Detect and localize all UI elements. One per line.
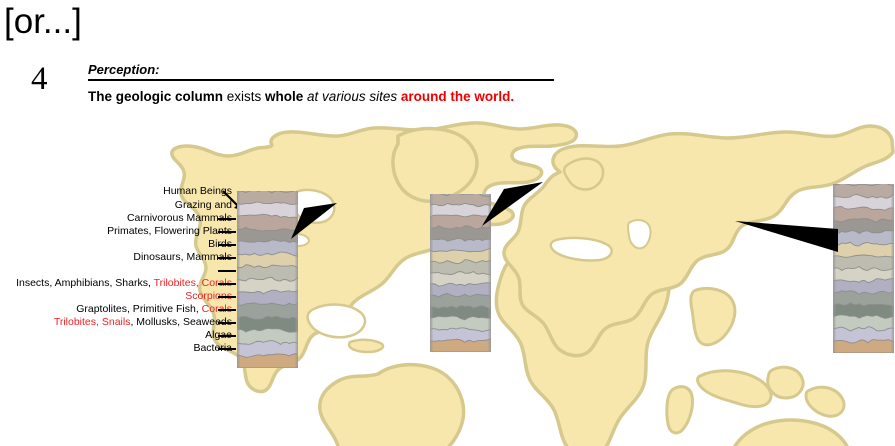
tick-carnivorous-mammals — [218, 218, 236, 220]
stratum-layer-14 — [833, 340, 894, 353]
headline-part-1: The geologic column — [88, 89, 223, 104]
headline-part-4: at various sites — [303, 89, 401, 104]
column-left-edge — [430, 194, 433, 352]
tick-scorpions — [218, 296, 236, 298]
land-greenland — [393, 129, 477, 202]
tick-graptolites-primitive-fish — [218, 309, 236, 311]
headline-part-3: whole — [265, 89, 303, 104]
stratum-tick-marks — [0, 186, 245, 376]
headline-text: The geologic column exists whole at vari… — [88, 88, 558, 105]
perception-label: Perception: — [88, 62, 558, 79]
land-south-america — [320, 365, 464, 446]
caspian-sea — [628, 220, 651, 248]
stratum-layer-14 — [430, 339, 491, 352]
header-divider-rule — [88, 79, 554, 81]
tick-algae — [218, 335, 236, 337]
geologic-column-asia — [833, 184, 894, 353]
headline-part-5: around the world. — [401, 89, 514, 104]
tick-trilobites-snails-mollusks — [218, 322, 236, 324]
land-madagascar — [667, 387, 693, 433]
land-new-guinea — [806, 387, 844, 416]
header-block: Perception: The geologic column exists w… — [88, 62, 558, 105]
land-borneo — [768, 367, 803, 398]
caribbean-islands — [349, 340, 383, 352]
column-left-edge — [237, 191, 240, 368]
pointer-arrow-asia — [735, 215, 840, 253]
tick-dinosaurs-mammals — [218, 257, 236, 259]
tick-primates-flowering-plants — [218, 231, 236, 233]
tick-bacteria — [218, 348, 236, 350]
land-australia — [728, 420, 851, 446]
land-indonesia — [698, 371, 771, 407]
headline-part-2: exists — [223, 89, 265, 104]
tick-blank-layer — [218, 270, 236, 272]
pointer-arrow-north-america — [291, 203, 339, 240]
column-right-edge — [892, 184, 895, 353]
slide-number: 4 — [31, 61, 48, 97]
geologic-column-north-america — [237, 191, 298, 368]
tick-birds — [218, 244, 236, 246]
land-india — [691, 288, 735, 344]
pointer-arrow-europe — [482, 182, 545, 227]
column-left-edge — [833, 184, 836, 353]
tick-insects-amphibians-sharks — [218, 283, 236, 285]
or-marker-text: [or...] — [4, 2, 82, 42]
